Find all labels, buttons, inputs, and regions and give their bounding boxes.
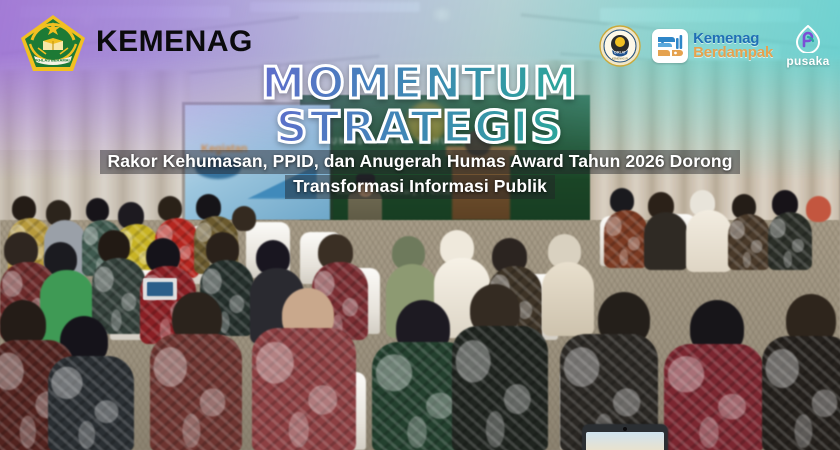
subtitle-line-1: Rakor Kehumasan, PPID, dan Anugerah Huma…	[100, 150, 741, 174]
news-banner: HUMAS AWARD TAHUN 2026 Hotel Arista Pale…	[0, 0, 840, 450]
svg-text:DIKLAT: DIKLAT	[614, 51, 626, 55]
laptop	[143, 278, 177, 300]
svg-text:KEMENAG RI: KEMENAG RI	[612, 57, 629, 61]
brand-wordmark: KEMENAG	[96, 27, 253, 57]
subtitle: Rakor Kehumasan, PPID, dan Anugerah Huma…	[0, 150, 840, 199]
berdampak-line2: Berdampak	[693, 46, 773, 60]
smartphone-camera	[623, 427, 627, 431]
headline-title: MOMENTUM STRATEGIS	[0, 62, 840, 149]
title-line-1: MOMENTUM	[0, 62, 840, 105]
pusaka-leaf-icon	[795, 25, 821, 53]
title-line-2: STRATEGIS	[0, 106, 840, 149]
subtitle-line-2: Transformasi Informasi Publik	[285, 175, 555, 199]
kemenag-berdampak-logo: Kemenag Berdampak	[652, 29, 773, 63]
humas-award-badge-logo: DIKLAT KEMENAG RI	[599, 25, 641, 67]
berdampak-text: Kemenag Berdampak	[693, 32, 773, 61]
smartphone-screen	[586, 432, 664, 450]
berdampak-mark-icon	[652, 29, 688, 63]
